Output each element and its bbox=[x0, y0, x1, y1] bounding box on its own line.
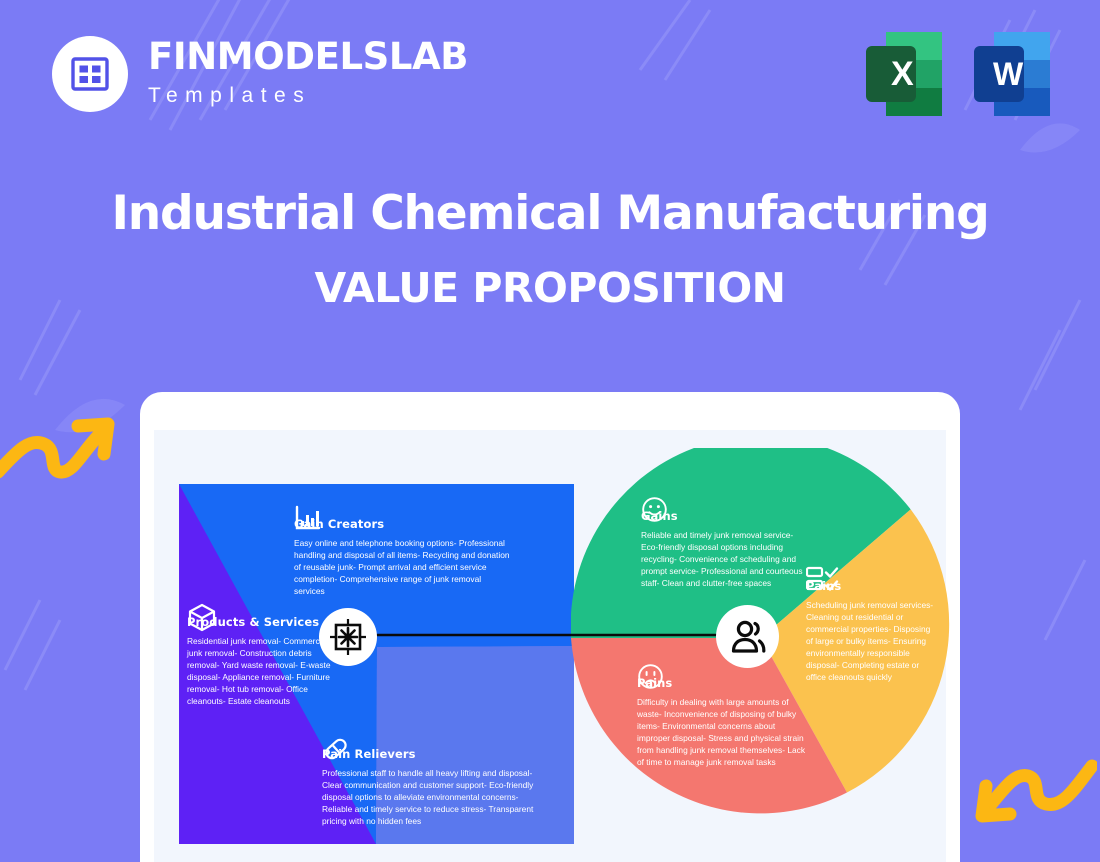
logo-badge bbox=[52, 36, 128, 112]
block-body: Reliable and timely junk removal service… bbox=[641, 530, 806, 590]
block-title: Pain Relievers bbox=[322, 747, 537, 761]
customer-segment-badge[interactable] bbox=[716, 605, 779, 668]
word-icon[interactable]: W bbox=[972, 30, 1052, 123]
squiggly-arrow-down-left-icon bbox=[962, 752, 1097, 847]
page-subtitle: VALUE PROPOSITION bbox=[0, 264, 1100, 313]
block-body: Easy online and telephone booking option… bbox=[294, 538, 512, 598]
brand-name: FINMODELSLAB bbox=[148, 38, 468, 75]
block-pain-relievers[interactable]: Pain Relievers Professional staff to han… bbox=[322, 734, 537, 828]
svg-text:W: W bbox=[993, 56, 1024, 92]
page-title: Industrial Chemical Manufacturing bbox=[0, 186, 1100, 242]
brand-subtitle: Templates bbox=[148, 85, 468, 106]
grid-squares-icon bbox=[70, 54, 110, 94]
svg-text:X: X bbox=[891, 55, 914, 93]
block-body: Professional staff to handle all heavy l… bbox=[322, 768, 537, 828]
block-customer-jobs[interactable]: Pains Scheduling junk removal services- … bbox=[806, 566, 936, 683]
value-proposition-badge[interactable] bbox=[319, 608, 377, 666]
excel-icon[interactable]: X bbox=[864, 30, 944, 123]
value-burst-square-icon bbox=[329, 618, 367, 656]
block-gain-creators[interactable]: Gain Creators Easy online and telephone … bbox=[294, 504, 512, 598]
block-title: Gain Creators bbox=[294, 517, 512, 531]
block-body: Scheduling junk removal services- Cleani… bbox=[806, 600, 936, 683]
block-products-services[interactable]: Products & Services Residential junk rem… bbox=[187, 602, 339, 708]
value-proposition-square[interactable]: Gain Creators Easy online and telephone … bbox=[179, 484, 574, 844]
block-gains[interactable]: Gains Reliable and timely junk removal s… bbox=[641, 496, 806, 590]
people-customer-icon bbox=[728, 618, 768, 656]
block-body: Residential junk removal- Commercial jun… bbox=[187, 636, 339, 708]
double-headed-arrow-icon bbox=[340, 625, 735, 650]
brand-wordmark: FINMODELSLAB Templates bbox=[148, 38, 468, 110]
office-format-icons: X W bbox=[864, 30, 1052, 123]
block-body: Difficulty in dealing with large amounts… bbox=[637, 697, 807, 769]
brand-logo[interactable]: FINMODELSLAB Templates bbox=[52, 36, 468, 112]
block-pains[interactable]: Pains Difficulty in dealing with large a… bbox=[637, 663, 807, 769]
page-header: FINMODELSLAB Templates X W bbox=[0, 0, 1100, 150]
title-block: Industrial Chemical Manufacturing VALUE … bbox=[0, 186, 1100, 314]
squiggly-arrow-up-right-icon bbox=[0, 404, 117, 495]
